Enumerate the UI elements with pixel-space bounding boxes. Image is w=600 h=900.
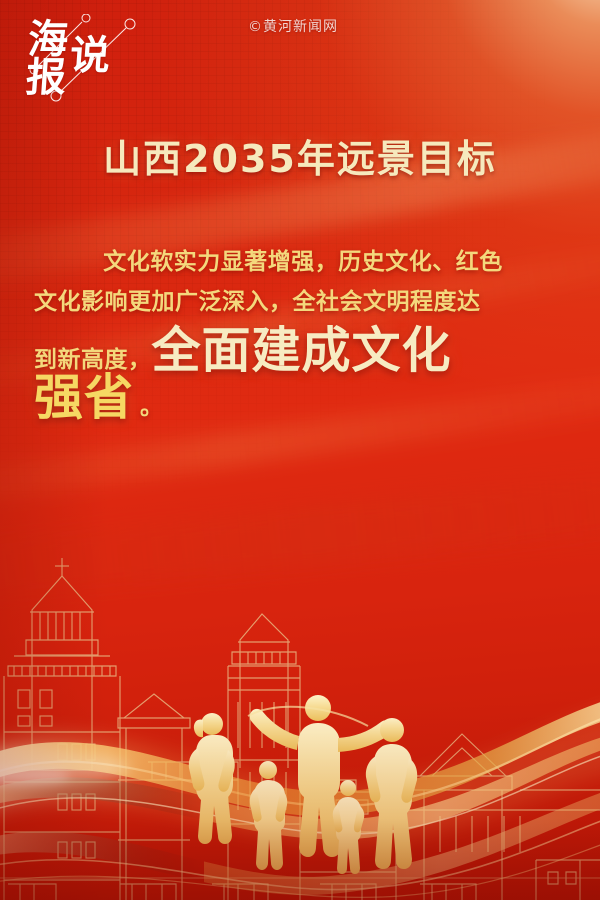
brand-logo[interactable]: 海 说 报 (22, 14, 172, 106)
body-line-4-period: 。 (140, 387, 163, 421)
people-silhouettes (0, 580, 600, 900)
figure-child-right (333, 780, 365, 874)
poster-canvas: 海 说 报 ©黄河新闻网 山西2035年远景目标 文化软实力显著增强，历史文化、… (0, 0, 600, 900)
poster-title: 山西2035年远景目标 (0, 128, 600, 183)
logo-char-hai: 海 (27, 20, 70, 60)
body-line-4-highlight: 强省 (34, 372, 134, 423)
body-line-4: 强省 。 (34, 372, 572, 423)
poster-body-text: 文化软实力显著增强，历史文化、红色 文化影响更加广泛深入，全社会文明程度达 到新… (34, 248, 572, 424)
figure-woman-left (189, 713, 235, 844)
body-line-1: 文化软实力显著增强，历史文化、红色 (34, 248, 572, 277)
site-watermark: ©黄河新闻网 (248, 16, 338, 36)
logo-characters: 海 说 报 (22, 14, 172, 106)
body-line-3-highlight: 全面建成文化 (152, 325, 452, 376)
logo-char-bao: 报 (25, 58, 68, 98)
body-line-2: 文化影响更加广泛深入，全社会文明程度达 (34, 288, 572, 317)
logo-char-shuo: 说 (69, 36, 112, 76)
figure-child-left (250, 761, 288, 870)
